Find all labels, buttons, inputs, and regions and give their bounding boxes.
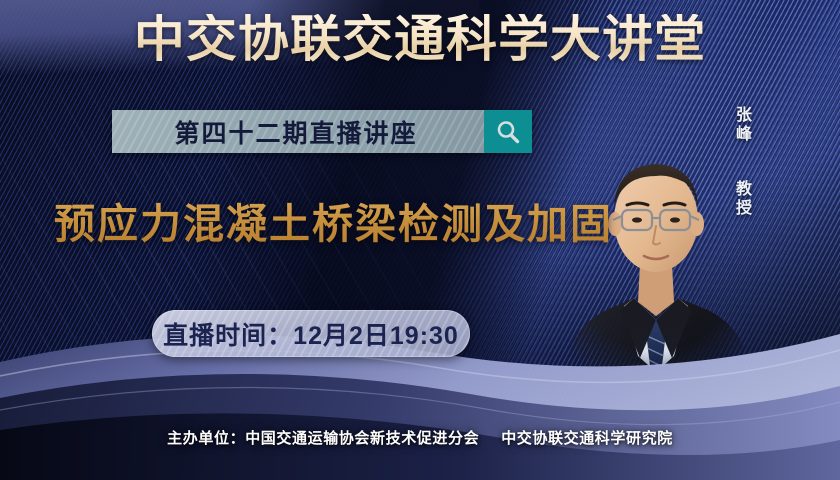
search-icon[interactable] — [484, 110, 532, 153]
schedule-pill: 直播时间：12月2日19:30 — [152, 310, 470, 357]
series-banner-label: 第四十二期直播讲座 — [112, 110, 484, 153]
speaker-affiliation: 山东大学齐鲁交通学院 — [772, 104, 796, 304]
footer-organizer-2: 中交协联交通科学研究院 — [501, 430, 673, 447]
footer-organizers: 主办单位：中国交通运输协会新技术促进分会中交协联交通科学研究院 — [0, 427, 840, 448]
lecture-topic: 预应力混凝土桥梁检测及加固 — [54, 190, 613, 250]
speaker-name: 张峰 — [729, 106, 752, 144]
footer-organizer-1: 中国交通运输协会新技术促进分会 — [245, 430, 479, 447]
page-title: 中交协联交通科学大讲堂 — [0, 14, 840, 64]
schedule-text: 直播时间：12月2日19:30 — [163, 316, 459, 352]
footer-prefix: 主办单位： — [167, 430, 245, 447]
series-banner: 第四十二期直播讲座 — [112, 110, 532, 153]
speaker-title: 教授 — [729, 180, 752, 218]
webinar-poster: 中交协联交通科学大讲堂 第四十二期直播讲座 预应力混凝土桥梁检测及加固 直播时间… — [0, 0, 840, 480]
